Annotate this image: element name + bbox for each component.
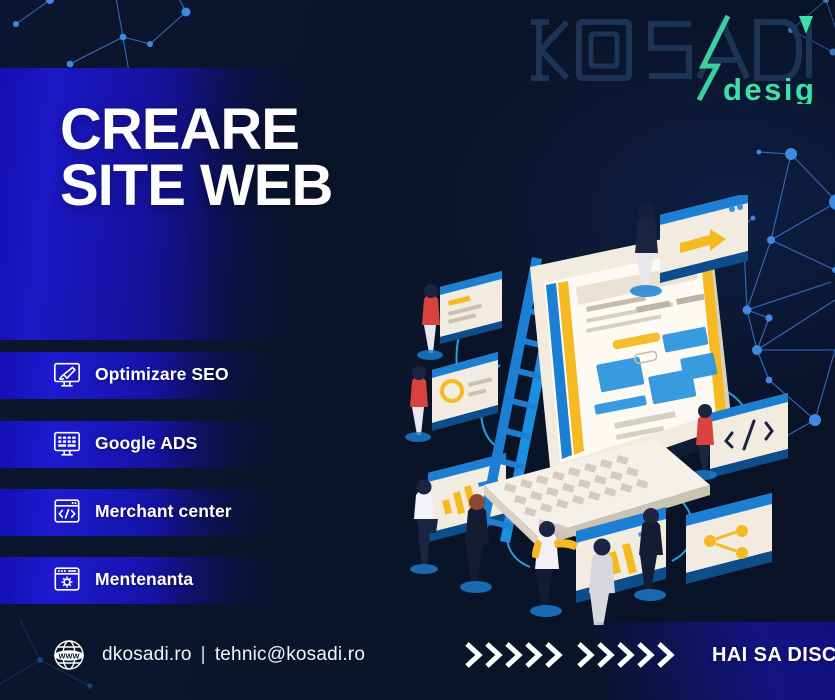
service-item-merchant-center[interactable]: Merchant center (52, 489, 232, 533)
www-globe-icon: WWW (52, 638, 86, 672)
monitor-grid-icon (52, 428, 82, 458)
chevron-right-icon (484, 640, 504, 670)
cta-label[interactable]: HAI SA DISCUTAM (712, 644, 835, 667)
service-item-mentenanta[interactable]: Mentenanta (52, 557, 193, 601)
browser-code-icon (52, 496, 82, 526)
page-title: CREARE SITE WEB (60, 102, 332, 215)
website-link[interactable]: dkosadi.ro (102, 644, 192, 665)
kosadi-design-logo: design (523, 8, 813, 104)
chevron-right-icon (504, 640, 524, 670)
email-link[interactable]: tehnic@kosadi.ro (215, 644, 365, 665)
floating-window-bottom-right (686, 493, 772, 584)
floating-window-left-mid (432, 352, 498, 431)
chevron-right-icon (616, 640, 636, 670)
chevron-right-icon (596, 640, 616, 670)
cta-block[interactable]: HAI SA DISCUTAM (464, 640, 835, 670)
service-label: Google ADS (95, 433, 197, 454)
chevron-group-1 (464, 640, 564, 670)
chevron-right-icon (576, 640, 596, 670)
service-label: Optimizare SEO (95, 364, 229, 385)
chevron-right-icon (524, 640, 544, 670)
monitor-paintbrush-icon (52, 359, 82, 389)
browser-gear-icon (52, 564, 82, 594)
isometric-web-development-illustration (380, 195, 835, 625)
person-figure-red-2 (405, 366, 431, 442)
service-label: Mentenanta (95, 569, 193, 590)
floating-window-top-right (660, 195, 748, 283)
poster-canvas: design CREARE SITE WEB Optimizare SEO (0, 0, 835, 700)
headline-line-2: SITE WEB (60, 158, 332, 214)
chevron-group-2 (576, 640, 676, 670)
chevron-right-icon (636, 640, 656, 670)
contact-text: dkosadi.ro|tehnic@kosadi.ro (102, 644, 365, 666)
person-figure-red (417, 284, 443, 360)
service-label: Merchant center (95, 501, 232, 522)
logo-subtext: design (723, 72, 813, 104)
contact-info: WWW dkosadi.ro|tehnic@kosadi.ro (52, 638, 365, 672)
svg-text:WWW: WWW (59, 651, 80, 660)
service-item-optimizare-seo[interactable]: Optimizare SEO (52, 352, 229, 396)
chevron-right-icon (544, 640, 564, 670)
chevron-right-icon (464, 640, 484, 670)
chevron-arrows (464, 640, 676, 670)
service-item-google-ads[interactable]: Google ADS (52, 421, 197, 465)
contact-separator: | (192, 644, 215, 665)
footer: WWW dkosadi.ro|tehnic@kosadi.ro (0, 622, 835, 700)
chevron-right-icon (656, 640, 676, 670)
floating-window-left-top (440, 271, 502, 344)
